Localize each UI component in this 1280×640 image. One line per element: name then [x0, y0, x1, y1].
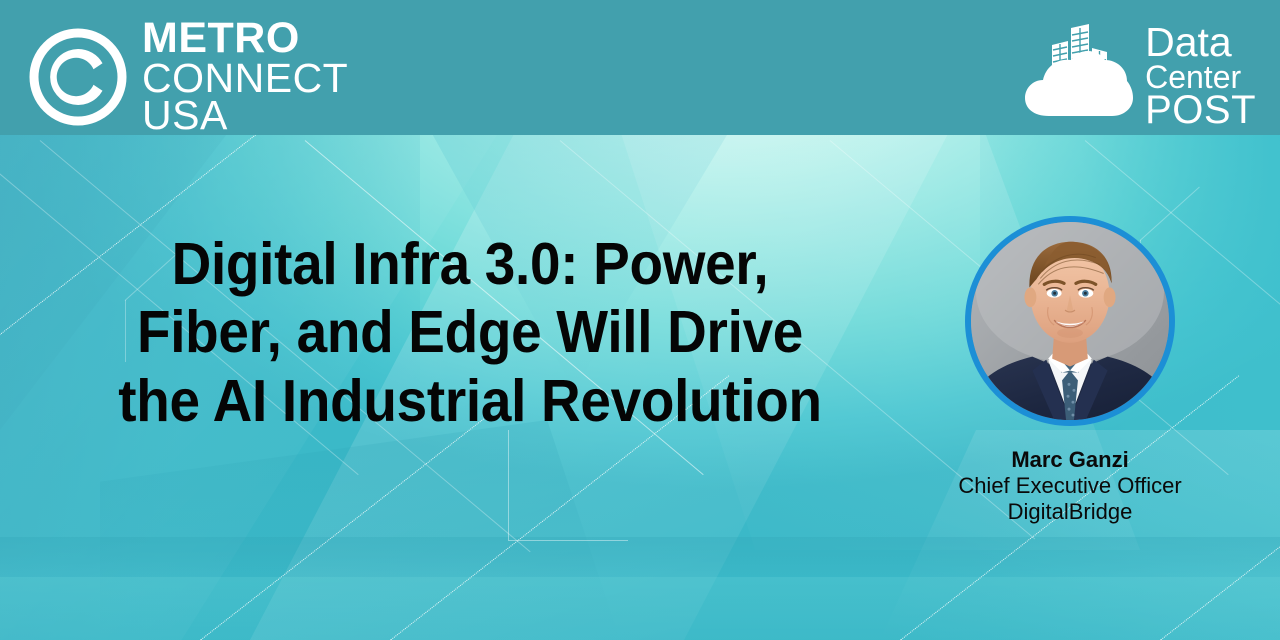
data-center-post-logo[interactable]: Data Center POST — [1019, 12, 1256, 130]
logo-line-metro: METRO — [142, 17, 348, 60]
speaker-name: Marc Ganzi — [925, 447, 1215, 473]
background-horizontal-band — [0, 537, 1280, 577]
logo-line-usa: USA — [142, 95, 348, 136]
title-line-3: the AI Industrial Revolution — [61, 367, 879, 435]
data-center-post-wordmark: Data Center POST — [1145, 12, 1256, 130]
logo-line-post: POST — [1145, 90, 1256, 130]
speaker-headshot-illustration — [971, 222, 1169, 420]
decorative-circuit-elbow — [508, 430, 509, 540]
metro-connect-wordmark: METRO CONNECT USA — [142, 17, 348, 136]
cloud-with-buildings-icon — [1019, 12, 1139, 124]
circle-c-icon — [28, 27, 128, 127]
avatar — [965, 216, 1175, 426]
page-title: Digital Infra 3.0: Power, Fiber, and Edg… — [61, 230, 879, 435]
decorative-circuit-elbow-foot — [508, 540, 628, 541]
metro-connect-usa-logo[interactable]: METRO CONNECT USA — [28, 17, 348, 136]
title-line-1: Digital Infra 3.0: Power, — [61, 230, 879, 298]
header-bar: METRO CONNECT USA — [0, 0, 1280, 135]
presentation-slide: METRO CONNECT USA — [0, 0, 1280, 640]
speaker-title: Chief Executive Officer — [925, 473, 1215, 499]
logo-line-data: Data — [1145, 22, 1256, 63]
speaker-block: Marc Ganzi Chief Executive Officer Digit… — [925, 216, 1215, 526]
speaker-organization: DigitalBridge — [925, 499, 1215, 525]
background-horizontal-band-lower — [0, 577, 1280, 640]
title-line-2: Fiber, and Edge Will Drive — [61, 298, 879, 366]
